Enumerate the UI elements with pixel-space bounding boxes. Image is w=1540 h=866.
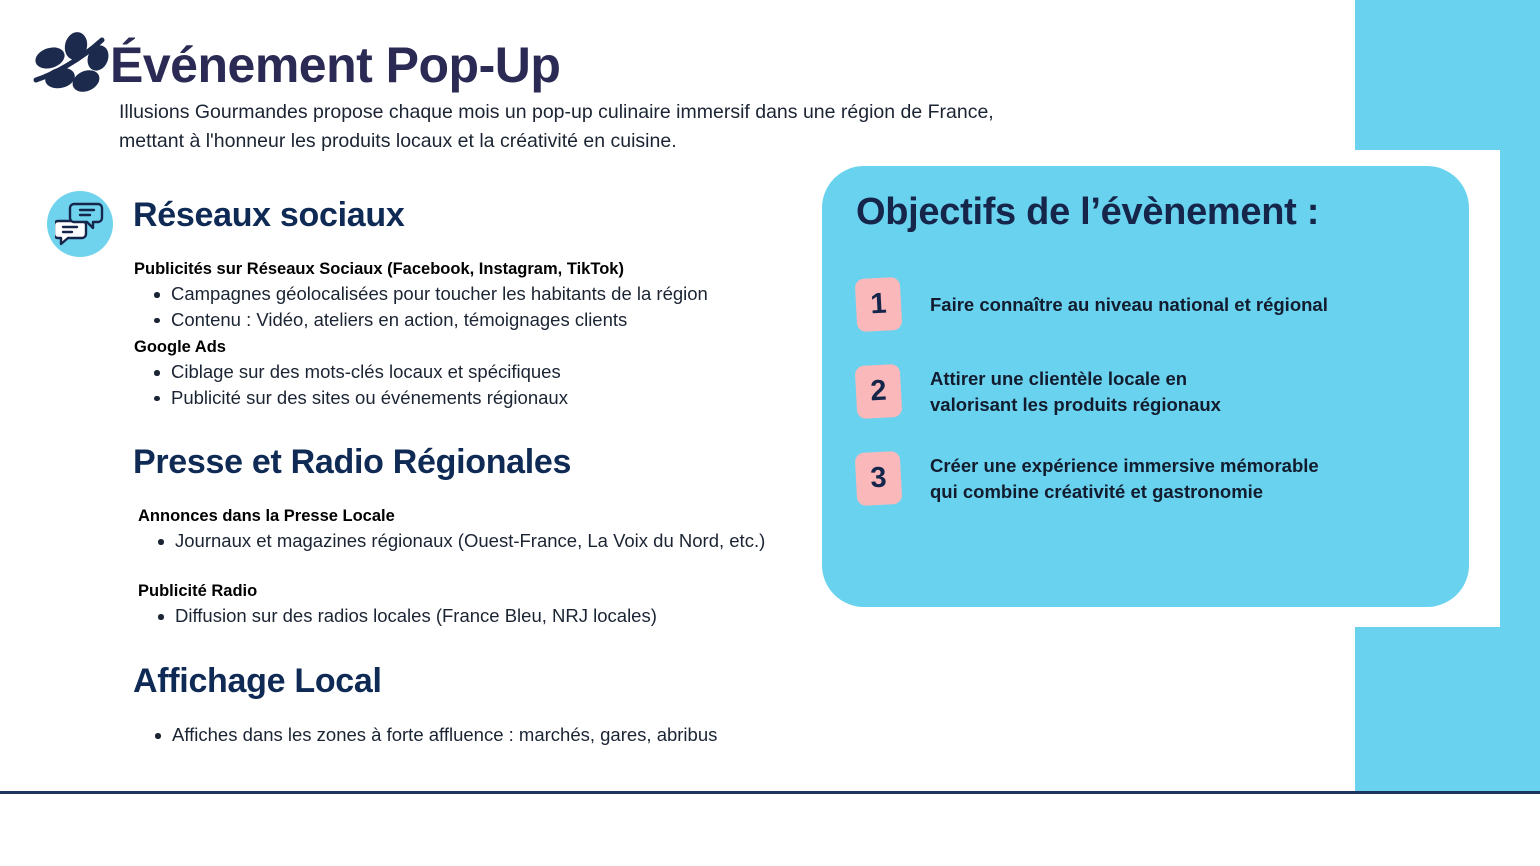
section-heading-affichage-local: Affichage Local — [133, 662, 382, 701]
subtitle-line-1: Illusions Gourmandes propose chaque mois… — [119, 98, 1239, 127]
list-item: Publicité sur des sites ou événements ré… — [149, 386, 894, 411]
list-item: Journaux et magazines régionaux (Ouest-F… — [153, 529, 898, 554]
objective-number-badge: 3 — [855, 451, 903, 506]
objectives-card: Objectifs de l’évènement : 1 Faire conna… — [822, 166, 1469, 607]
list-item: Ciblage sur des mots-clés locaux et spéc… — [149, 360, 894, 385]
list-item: Campagnes géolocalisées pour toucher les… — [149, 282, 894, 307]
objective-item: 3 Créer une expérience immersive mémorab… — [856, 452, 1449, 505]
group-lead: Publicité Radio — [138, 580, 898, 602]
bullet-list: Campagnes géolocalisées pour toucher les… — [134, 282, 894, 332]
objectives-list: 1 Faire connaître au niveau national et … — [856, 278, 1449, 539]
list-item: Contenu : Vidéo, ateliers en action, tém… — [149, 308, 894, 333]
decor-band-middle — [1500, 140, 1540, 640]
objective-text: Faire connaître au niveau national et ré… — [930, 292, 1328, 318]
objective-number-badge: 1 — [855, 277, 903, 332]
list-item: Affiches dans les zones à forte affluenc… — [150, 723, 910, 748]
objective-text-line-2: qui combine créativité et gastronomie — [930, 479, 1319, 505]
slide-canvas: Événement Pop-Up Illusions Gourmandes pr… — [0, 0, 1540, 866]
objectives-title: Objectifs de l’évènement : — [856, 191, 1319, 234]
section-body-affichage: Affiches dans les zones à forte affluenc… — [150, 723, 910, 749]
decor-band-top — [1355, 0, 1540, 150]
bullet-list: Journaux et magazines régionaux (Ouest-F… — [138, 529, 898, 554]
objective-item: 1 Faire connaître au niveau national et … — [856, 278, 1449, 331]
section-body-reseaux-sociaux: Publicités sur Réseaux Sociaux (Facebook… — [134, 258, 894, 411]
objective-text-line-1: Faire connaître au niveau national et ré… — [930, 292, 1328, 318]
subtitle-line-2: mettant à l'honneur les produits locaux … — [119, 127, 1239, 156]
wheat-branch-icon — [24, 26, 120, 106]
objective-text-line-2: valorisant les produits régionaux — [930, 392, 1221, 418]
footer: iut Lannion Université de Rennes — [0, 794, 1540, 866]
bullet-list: Ciblage sur des mots-clés locaux et spéc… — [134, 360, 894, 410]
objective-text-line-1: Créer une expérience immersive mémorable — [930, 453, 1319, 479]
section-body-radio: Publicité Radio Diffusion sur des radios… — [138, 580, 898, 630]
group-lead: Annonces dans la Presse Locale — [138, 505, 898, 527]
objective-text-line-1: Attirer une clientèle locale en — [930, 366, 1221, 392]
section-heading-reseaux-sociaux: Réseaux sociaux — [133, 196, 404, 235]
section-heading-presse-radio: Presse et Radio Régionales — [133, 443, 571, 482]
group-lead: Publicités sur Réseaux Sociaux (Facebook… — [134, 258, 894, 280]
page-title: Événement Pop-Up — [110, 36, 560, 94]
list-item: Diffusion sur des radios locales (France… — [153, 604, 898, 629]
bullet-list: Diffusion sur des radios locales (France… — [138, 604, 898, 629]
objective-text: Créer une expérience immersive mémorable… — [930, 453, 1319, 505]
objective-item: 2 Attirer une clientèle locale en valori… — [856, 365, 1449, 418]
decor-band-bottom — [1355, 627, 1540, 791]
objective-number-badge: 2 — [855, 364, 903, 419]
chat-bubbles-icon — [47, 191, 113, 257]
page-subtitle: Illusions Gourmandes propose chaque mois… — [119, 98, 1239, 156]
objective-text: Attirer une clientèle locale en valorisa… — [930, 366, 1221, 418]
section-body-presse: Annonces dans la Presse Locale Journaux … — [138, 505, 898, 555]
group-lead: Google Ads — [134, 336, 894, 358]
bullet-list: Affiches dans les zones à forte affluenc… — [150, 723, 910, 748]
